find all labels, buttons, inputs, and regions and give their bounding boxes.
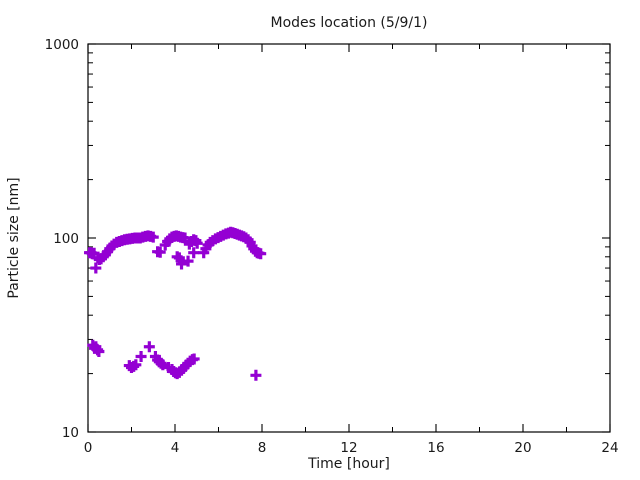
- x-tick-label: 16: [427, 440, 444, 456]
- scatter-plot-svg: Modes location (5/9/1) 101001000 0481216…: [0, 0, 640, 480]
- chart-figure: Modes location (5/9/1) 101001000 0481216…: [0, 0, 640, 480]
- x-tick-label: 0: [84, 440, 93, 456]
- y-tick-label: 10: [62, 425, 79, 441]
- y-tick-label: 1000: [45, 37, 79, 53]
- x-tick-label: 8: [258, 440, 267, 456]
- y-tick-label: 100: [53, 231, 79, 247]
- x-tick-label: 24: [601, 440, 618, 456]
- plot-background: [0, 0, 640, 480]
- x-axis-title: Time [hour]: [307, 456, 390, 472]
- y-axis-title: Particle size [nm]: [6, 177, 22, 298]
- x-tick-label: 4: [171, 440, 180, 456]
- x-tick-label: 12: [340, 440, 357, 456]
- x-tick-label: 20: [514, 440, 531, 456]
- chart-title: Modes location (5/9/1): [271, 15, 428, 31]
